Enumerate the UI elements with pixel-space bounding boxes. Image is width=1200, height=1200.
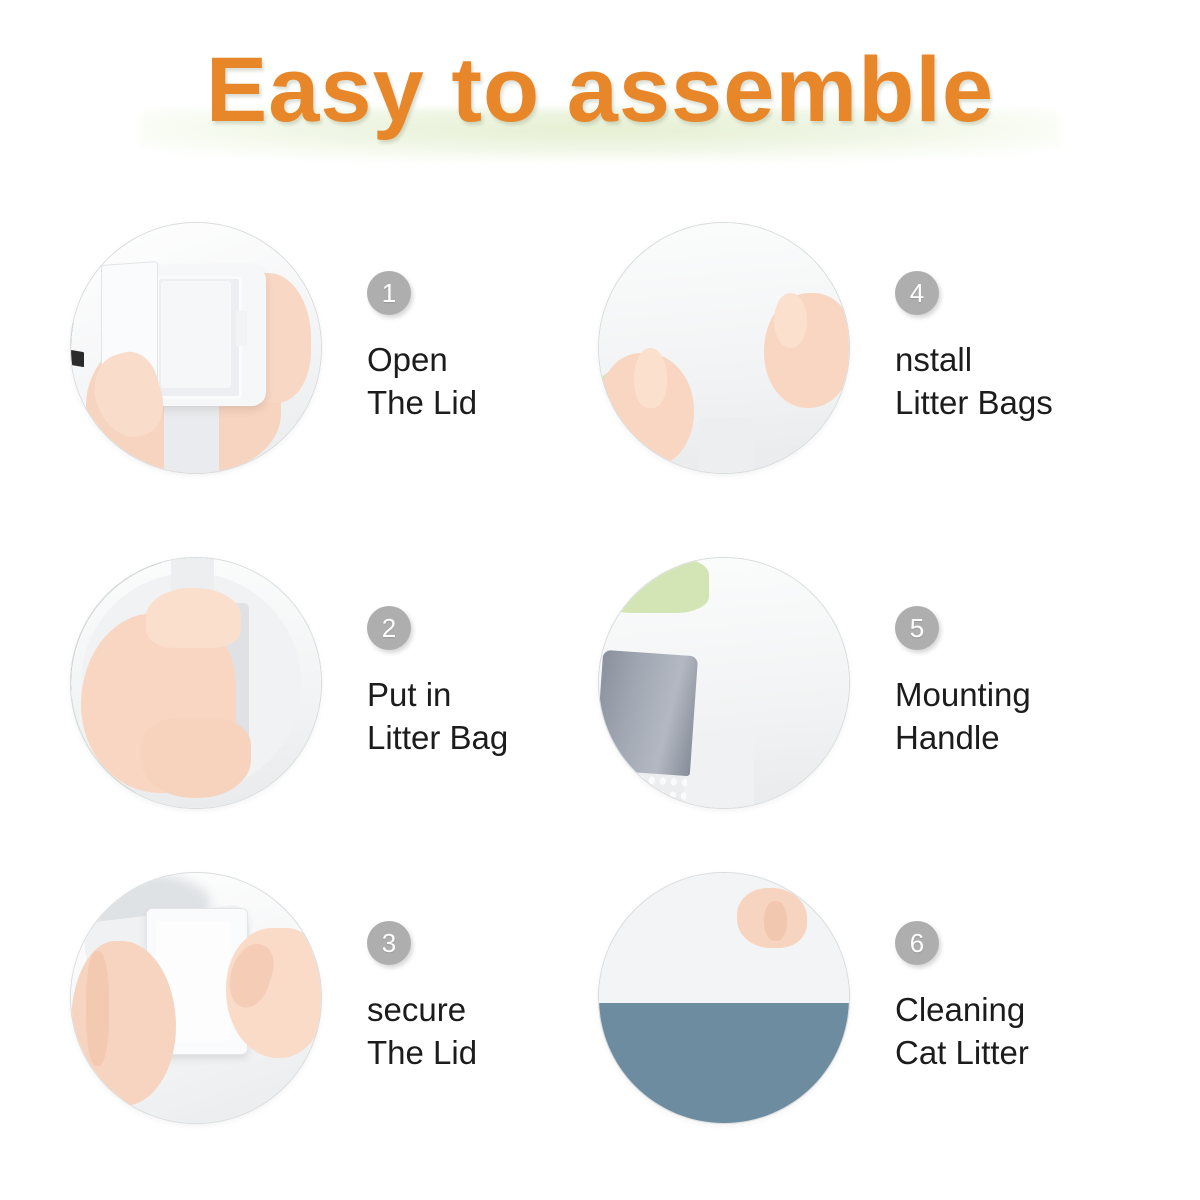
litter-box xyxy=(599,1003,849,1124)
step-caption-6: 6 Cleaning Cat Litter xyxy=(895,921,1029,1075)
cartridge-cavity-inner xyxy=(161,281,231,389)
step-photo-put-in-litter-bag xyxy=(70,557,322,809)
step-label-line2: Litter Bag xyxy=(367,717,508,760)
step-label-line2: Cat Litter xyxy=(895,1032,1029,1075)
step-item-1: 1 Open The Lid xyxy=(70,198,610,498)
hand-fingers-bottom xyxy=(141,718,251,798)
step-item-6: 6 Cleaning Cat Litter xyxy=(598,848,1138,1148)
hand-left-thumb xyxy=(634,348,667,408)
step-photo-mounting-handle xyxy=(598,557,850,809)
step-caption-3: 3 secure The Lid xyxy=(367,921,477,1075)
step-caption-2: 2 Put in Litter Bag xyxy=(367,606,508,760)
dispenser-tube xyxy=(684,738,754,808)
step-photo-install-litter-bags xyxy=(598,222,850,474)
step-badge-6: 6 xyxy=(895,921,939,965)
hand-fingers-top xyxy=(146,588,241,648)
side-tab xyxy=(236,311,247,346)
step-badge-1: 1 xyxy=(367,271,411,315)
step-badge-3: 3 xyxy=(367,921,411,965)
background-wall xyxy=(599,873,849,1003)
step-label-line1: Mounting xyxy=(895,674,1031,717)
step-label-line1: Cleaning xyxy=(895,989,1029,1032)
hand-left-finger xyxy=(86,951,109,1066)
dispenser-body-stem xyxy=(164,398,219,473)
step-label-line2: The Lid xyxy=(367,382,477,425)
step-photo-cleaning-cat-litter xyxy=(598,872,850,1124)
step-badge-2: 2 xyxy=(367,606,411,650)
litter-scoop-blade xyxy=(598,650,698,776)
page-header: Easy to assemble xyxy=(0,0,1200,175)
hand-right-thumb xyxy=(774,293,807,348)
step-badge-5: 5 xyxy=(895,606,939,650)
steps-grid: 1 Open The Lid 2 Put in xyxy=(0,178,1200,1200)
step-label-line1: secure xyxy=(367,989,477,1032)
step-label-line1: nstall xyxy=(895,339,1053,382)
step-item-3: 3 secure The Lid xyxy=(70,848,610,1148)
step-caption-4: 4 nstall Litter Bags xyxy=(895,271,1053,425)
step-photo-secure-the-lid xyxy=(70,872,322,1124)
scoop-perforations xyxy=(598,770,687,809)
step-label-line1: Put in xyxy=(367,674,508,717)
green-bag-skirt xyxy=(599,558,709,613)
step-item-2: 2 Put in Litter Bag xyxy=(70,533,610,833)
step-label-line2: Litter Bags xyxy=(895,382,1053,425)
hand-finger xyxy=(764,901,787,941)
step-caption-1: 1 Open The Lid xyxy=(367,271,477,425)
step-label-line2: Handle xyxy=(895,717,1031,760)
step-badge-4: 4 xyxy=(895,271,939,315)
black-tab xyxy=(71,349,84,366)
step-label-line2: The Lid xyxy=(367,1032,477,1075)
step-caption-5: 5 Mounting Handle xyxy=(895,606,1031,760)
step-label-line1: Open xyxy=(367,339,477,382)
step-item-4: 4 nstall Litter Bags xyxy=(598,198,1138,498)
step-item-5: 5 Mounting Handle xyxy=(598,533,1138,833)
page-title: Easy to assemble xyxy=(0,44,1200,136)
dispenser-tube xyxy=(699,418,754,473)
step-photo-open-the-lid xyxy=(70,222,322,474)
